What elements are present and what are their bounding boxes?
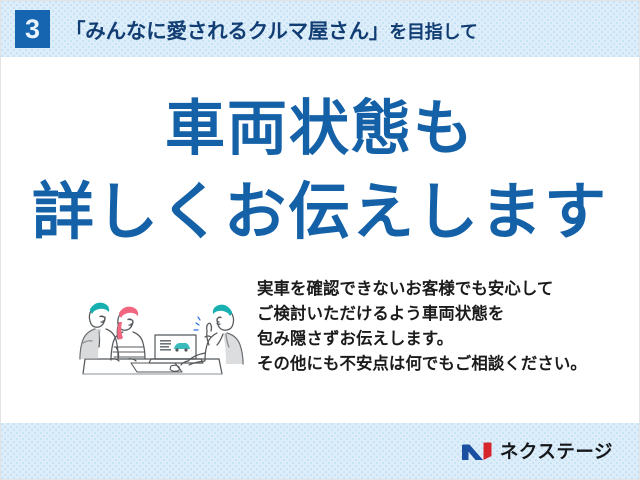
main-content: 車両状態も 詳しくお伝えします — [1, 57, 639, 423]
body-line-1: 実車を確認できないお客様でも安心して — [257, 277, 639, 302]
brand-logo-text: ネクステージ — [500, 438, 613, 464]
lower-row: 実車を確認できないお客様でも安心して ご検討いただけるよう車両状態を 包み隠さず… — [1, 273, 639, 393]
footer-band: ネクステージ — [1, 423, 639, 479]
header-title-suffix: を目指して — [389, 22, 477, 42]
body-line-3: 包み隠さずお伝えします。 — [257, 327, 639, 352]
headline-line-2: 詳しくお伝えします — [1, 182, 639, 244]
brand-logo: ネクステージ — [461, 438, 613, 464]
body-line-4: その他にも不安点は何でもご相談ください。 — [257, 352, 639, 377]
header-title-main: 「みんなに愛されるクルマ屋さん」 — [65, 20, 389, 43]
body-line-2: ご検討いただけるよう車両状態を — [257, 302, 639, 327]
body-copy: 実車を確認できないお客様でも安心して ご検討いただけるよう車両状態を 包み隠さず… — [257, 273, 639, 377]
nextage-n-mark-icon — [461, 439, 493, 463]
headline-line-1: 車両状態も — [1, 99, 639, 159]
header-title: 「みんなに愛されるクルマ屋さん」を目指して — [65, 14, 478, 44]
header-band: 3 「みんなに愛されるクルマ屋さん」を目指して — [1, 1, 639, 57]
promo-banner: 3 「みんなに愛されるクルマ屋さん」を目指して 車両状態も 詳しくお伝えします — [0, 0, 640, 480]
section-number-badge: 3 — [15, 10, 50, 48]
consultation-illustration — [59, 273, 249, 389]
